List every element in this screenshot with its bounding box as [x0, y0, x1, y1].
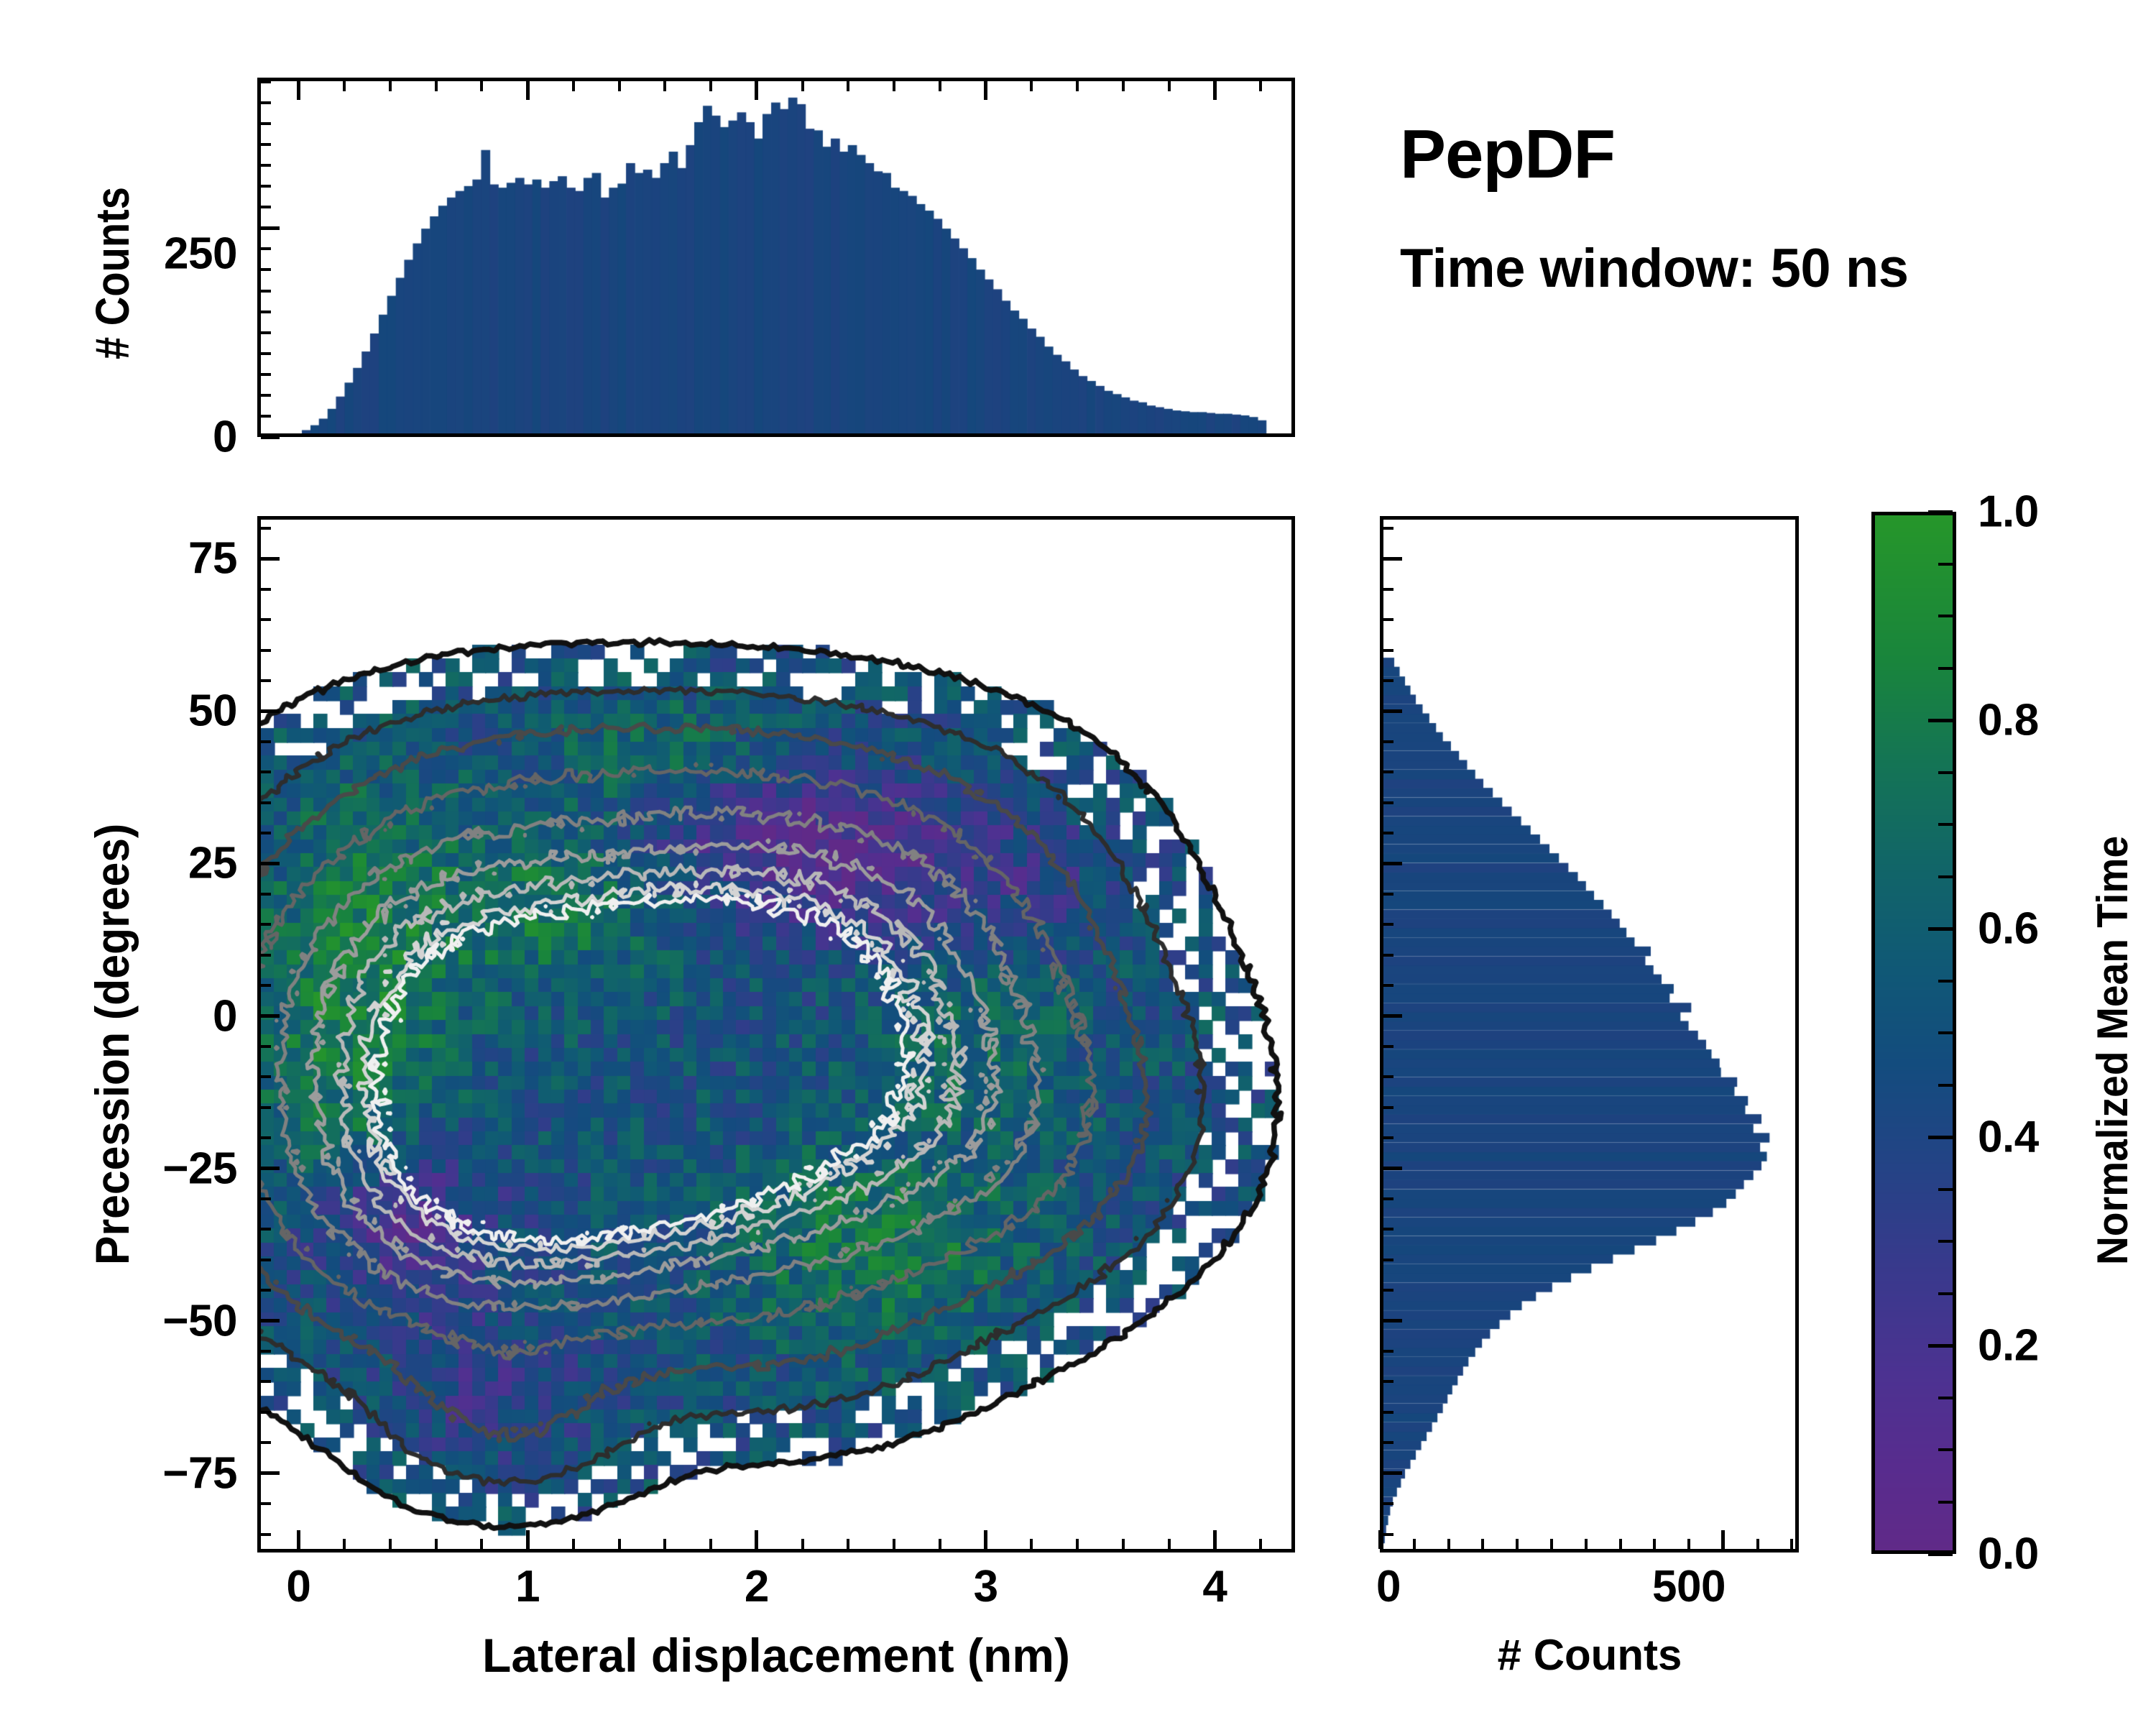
- main-ytick-minor: [261, 984, 271, 987]
- main-ytick-major: [261, 1319, 280, 1322]
- main-xtick-minor: [618, 1539, 621, 1549]
- top-ytick-minor: [261, 80, 271, 83]
- main-xtick-minor: [1122, 1539, 1125, 1549]
- right-ytick-minor: [1383, 1380, 1393, 1383]
- main-xtick-minor: [389, 1539, 392, 1549]
- right-ytick-minor: [1383, 1411, 1393, 1414]
- top-xtick-minor: [435, 81, 438, 91]
- top-xtick-minor: [480, 81, 483, 91]
- right-xtick-major: [1378, 1530, 1382, 1549]
- right-ytick-major: [1383, 709, 1402, 713]
- main-ytick-minor: [261, 1259, 271, 1261]
- right-ytick-minor: [1383, 1441, 1393, 1444]
- main-panel-xlabel: Lateral displacement (nm): [482, 1628, 1070, 1683]
- colorbar-tick-major: [1928, 1344, 1953, 1348]
- main-ytick-minor: [261, 1045, 271, 1048]
- main-ytick-minor: [261, 1533, 271, 1536]
- top-ytick-minor: [261, 290, 271, 293]
- main-ytick-minor: [261, 1350, 271, 1353]
- right-ytick-minor: [1383, 618, 1393, 621]
- top-ytick-minor: [261, 122, 271, 125]
- colorbar-tick-minor: [1938, 771, 1953, 774]
- figure-title: PepDF: [1400, 115, 1615, 194]
- colorbar-tick-minor: [1938, 1188, 1953, 1191]
- right-ytick-minor: [1383, 770, 1393, 773]
- right-xtick-major: [1721, 1530, 1725, 1549]
- colorbar-tick-major: [1928, 510, 1953, 514]
- colorbar-tick-major: [1928, 1552, 1953, 1556]
- main-xtick-minor: [572, 1539, 575, 1549]
- top-ytick-label-0: 0: [137, 412, 237, 463]
- right-xtick-label-0: 0: [1376, 1561, 1401, 1612]
- main-ytick-minor: [261, 1502, 271, 1505]
- main-ytick-major: [261, 862, 280, 865]
- main-xtick-minor: [435, 1539, 438, 1549]
- top-ytick-minor: [261, 310, 271, 313]
- top-xtick-major: [755, 81, 758, 100]
- top-xtick-minor: [343, 81, 346, 91]
- main-ytick-minor: [261, 1228, 271, 1230]
- right-ytick-minor: [1383, 649, 1393, 652]
- main-ytick-minor: [261, 679, 271, 682]
- right-xtick-minor: [1653, 1539, 1656, 1549]
- top-ytick-minor: [261, 415, 271, 418]
- right-ytick-minor: [1383, 984, 1393, 987]
- main-xtick-major: [1213, 1530, 1217, 1549]
- top-xtick-major: [1213, 81, 1217, 100]
- main-xtick-minor: [1030, 1539, 1033, 1549]
- main-ytick-minor: [261, 1441, 271, 1444]
- top-marginal-histogram-panel: [257, 78, 1295, 437]
- colorbar-tick-label: 0.8: [1978, 695, 2039, 746]
- right-xtick-minor: [1585, 1539, 1588, 1549]
- top-xtick-minor: [939, 81, 941, 91]
- right-xtick-minor: [1756, 1539, 1759, 1549]
- colorbar-tick-minor: [1938, 823, 1953, 826]
- top-ytick-minor: [261, 394, 271, 397]
- top-ytick-minor: [261, 331, 271, 334]
- top-xtick-major: [984, 81, 987, 100]
- right-ytick-minor: [1383, 1136, 1393, 1139]
- main-ytick-minor: [261, 770, 271, 773]
- colorbar-tick-minor: [1938, 1448, 1953, 1451]
- colorbar-tick-minor: [1938, 615, 1953, 617]
- right-ytick-minor: [1383, 893, 1393, 896]
- top-xtick-minor: [893, 81, 895, 91]
- right-ytick-minor: [1383, 1106, 1393, 1109]
- right-xtick-label-500: 500: [1652, 1561, 1726, 1612]
- right-xtick-minor: [1447, 1539, 1450, 1549]
- right-panel-xlabel: # Counts: [1498, 1630, 1682, 1680]
- main-xtick-minor: [480, 1539, 483, 1549]
- colorbar-tick-major: [1928, 927, 1953, 931]
- main-xtick-major: [526, 1530, 530, 1549]
- colorbar-tick-label: 0.0: [1978, 1529, 2039, 1580]
- figure-subtitle: Time window: 50 ns: [1400, 237, 1909, 300]
- top-ytick-minor: [261, 143, 271, 146]
- main-xtick-minor: [893, 1539, 895, 1549]
- right-histogram-canvas: [1383, 520, 1795, 1549]
- main-ytick-major: [261, 1167, 280, 1170]
- right-xtick-minor: [1687, 1539, 1690, 1549]
- main-ytick-label: 50: [57, 686, 237, 737]
- top-xtick-minor: [618, 81, 621, 91]
- right-ytick-major: [1383, 1014, 1402, 1018]
- right-xtick-minor: [1481, 1539, 1484, 1549]
- top-xtick-minor: [801, 81, 804, 91]
- colorbar-tick-minor: [1938, 875, 1953, 878]
- colorbar-tick-label: 0.2: [1978, 1320, 2039, 1371]
- main-xtick-minor: [1259, 1539, 1262, 1549]
- right-ytick-minor: [1383, 954, 1393, 957]
- top-xtick-minor: [1030, 81, 1033, 91]
- top-xtick-minor: [389, 81, 392, 91]
- main-xtick-major: [297, 1530, 300, 1549]
- colorbar-tick-minor: [1938, 1501, 1953, 1504]
- colorbar-label: Normalized Mean Time: [2088, 836, 2137, 1265]
- colorbar-tick-label: 0.4: [1978, 1112, 2039, 1163]
- top-ytick-major: [261, 226, 280, 230]
- colorbar-tick-major: [1928, 719, 1953, 722]
- top-xtick-major: [526, 81, 530, 100]
- right-xtick-minor: [1790, 1539, 1793, 1549]
- right-ytick-minor: [1383, 1228, 1393, 1230]
- main-ytick-minor: [261, 923, 271, 926]
- top-ytick-minor: [261, 373, 271, 376]
- main-ytick-minor: [261, 832, 271, 834]
- right-ytick-minor: [1383, 1259, 1393, 1261]
- top-xtick-minor: [1259, 81, 1262, 91]
- main-xtick-major: [984, 1530, 987, 1549]
- top-ytick-minor: [261, 164, 271, 167]
- top-ytick-minor: [261, 206, 271, 208]
- right-ytick-minor: [1383, 801, 1393, 804]
- colorbar-tick-minor: [1938, 1240, 1953, 1243]
- top-xtick-minor: [1122, 81, 1125, 91]
- right-ytick-minor: [1383, 1289, 1393, 1292]
- top-ytick-minor: [261, 101, 271, 104]
- main-xtick-minor: [343, 1539, 346, 1549]
- right-ytick-minor: [1383, 923, 1393, 926]
- main-ytick-minor: [261, 893, 271, 896]
- right-ytick-minor: [1383, 588, 1393, 591]
- main-xtick-minor: [663, 1539, 666, 1549]
- main-ytick-minor: [261, 801, 271, 804]
- main-xtick-minor: [1076, 1539, 1079, 1549]
- top-ytick-minor: [261, 185, 271, 188]
- right-ytick-minor: [1383, 1502, 1393, 1505]
- right-ytick-minor: [1383, 1350, 1393, 1353]
- main-xtick-minor: [939, 1539, 941, 1549]
- colorbar-tick-minor: [1938, 980, 1953, 983]
- right-ytick-major: [1383, 1167, 1402, 1170]
- main-xtick-label: 4: [1202, 1561, 1227, 1612]
- main-ytick-major: [261, 709, 280, 713]
- right-ytick-minor: [1383, 832, 1393, 834]
- main-ytick-major: [261, 557, 280, 561]
- colorbar-tick-minor: [1938, 1084, 1953, 1087]
- right-ytick-major: [1383, 1471, 1402, 1475]
- main-ytick-minor: [261, 1136, 271, 1139]
- main-ytick-minor: [261, 649, 271, 652]
- main-ytick-minor: [261, 1380, 271, 1383]
- main-ytick-major: [261, 1014, 280, 1018]
- top-xtick-minor: [1168, 81, 1171, 91]
- main-ytick-minor: [261, 588, 271, 591]
- main-ytick-minor: [261, 618, 271, 621]
- main-xtick-label: 2: [745, 1561, 769, 1612]
- right-ytick-minor: [1383, 679, 1393, 682]
- colorbar-tick-minor: [1938, 667, 1953, 670]
- main-xtick-label: 3: [974, 1561, 998, 1612]
- right-ytick-major: [1383, 557, 1402, 561]
- top-histogram-canvas: [261, 81, 1291, 433]
- main-ytick-minor: [261, 1197, 271, 1200]
- top-ytick-minor: [261, 268, 271, 271]
- right-ytick-minor: [1383, 1197, 1393, 1200]
- main-ytick-label: −75: [57, 1448, 237, 1499]
- main-xtick-minor: [801, 1539, 804, 1549]
- top-ytick-major: [261, 436, 280, 439]
- top-ytick-minor: [261, 247, 271, 250]
- figure-root: 0 250 # Counts 01234 7550250−25−50−75 La…: [0, 0, 2156, 1725]
- colorbar-tick-minor: [1938, 1397, 1953, 1399]
- right-xtick-minor: [1619, 1539, 1622, 1549]
- right-ytick-minor: [1383, 527, 1393, 530]
- top-xtick-minor: [847, 81, 849, 91]
- right-xtick-minor: [1550, 1539, 1553, 1549]
- top-xtick-major: [297, 81, 300, 100]
- right-ytick-minor: [1383, 1045, 1393, 1048]
- main-panel-ylabel: Precession (degrees): [85, 824, 139, 1265]
- colorbar-tick-major: [1928, 1136, 1953, 1139]
- main-heatmap-panel: [257, 516, 1295, 1552]
- top-xtick-minor: [709, 81, 712, 91]
- main-ytick-minor: [261, 740, 271, 743]
- main-ytick-label: −50: [57, 1295, 237, 1346]
- main-ytick-minor: [261, 954, 271, 957]
- colorbar-tick-minor: [1938, 1292, 1953, 1295]
- right-ytick-major: [1383, 862, 1402, 865]
- right-xtick-minor: [1516, 1539, 1519, 1549]
- top-xtick-minor: [663, 81, 666, 91]
- main-ytick-major: [261, 1471, 280, 1475]
- main-xtick-minor: [709, 1539, 712, 1549]
- colorbar-tick-label: 0.6: [1978, 903, 2039, 954]
- joint-histogram-canvas: [261, 520, 1291, 1549]
- right-ytick-minor: [1383, 740, 1393, 743]
- main-ytick-minor: [261, 1075, 271, 1078]
- main-ytick-minor: [261, 1106, 271, 1109]
- main-xtick-minor: [847, 1539, 849, 1549]
- right-marginal-histogram-panel: [1380, 516, 1799, 1552]
- right-ytick-major: [1383, 1319, 1402, 1322]
- main-ytick-minor: [261, 1411, 271, 1414]
- colorbar-tick-minor: [1938, 563, 1953, 566]
- main-ytick-minor: [261, 1289, 271, 1292]
- top-panel-ylabel: # Counts: [85, 187, 139, 359]
- colorbar-tick-label: 1.0: [1978, 487, 2039, 538]
- main-xtick-minor: [1168, 1539, 1171, 1549]
- top-ytick-minor: [261, 352, 271, 355]
- right-xtick-minor: [1413, 1539, 1416, 1549]
- right-ytick-minor: [1383, 1075, 1393, 1078]
- main-xtick-label: 1: [515, 1561, 540, 1612]
- top-xtick-minor: [572, 81, 575, 91]
- main-xtick-major: [755, 1530, 758, 1549]
- top-xtick-minor: [1076, 81, 1079, 91]
- main-ytick-label: 75: [57, 533, 237, 584]
- colorbar-tick-minor: [1938, 1031, 1953, 1034]
- main-xtick-label: 0: [286, 1561, 310, 1612]
- main-ytick-minor: [261, 527, 271, 530]
- right-ytick-minor: [1383, 1533, 1393, 1536]
